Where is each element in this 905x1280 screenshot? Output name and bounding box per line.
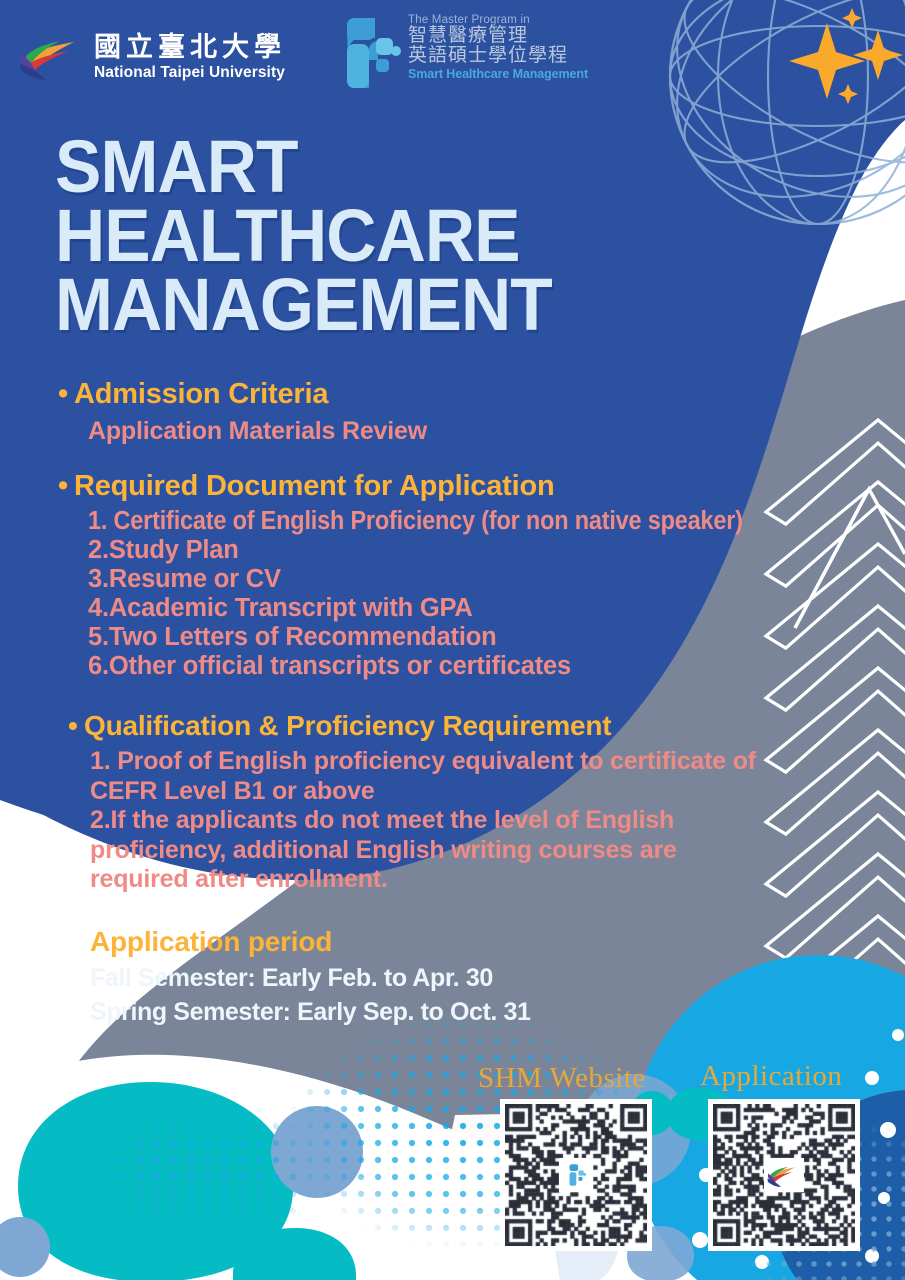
- qr-center-logo-ntpu: [764, 1158, 804, 1192]
- qr-label-application: Application: [700, 1060, 842, 1093]
- qr-code-shm-website[interactable]: [500, 1099, 652, 1251]
- poster: 國立臺北大學 National Taipei University The Ma…: [0, 0, 905, 1280]
- qr-code-application[interactable]: [708, 1099, 860, 1251]
- shm-cross-emblem-icon: [563, 1163, 589, 1187]
- qr-center-logo-shm: [559, 1158, 593, 1192]
- qr-code-area: SHM Website Application: [0, 0, 905, 1280]
- ntpu-bird-emblem-icon: [766, 1161, 802, 1189]
- qr-label-shm-website: SHM Website: [478, 1062, 646, 1095]
